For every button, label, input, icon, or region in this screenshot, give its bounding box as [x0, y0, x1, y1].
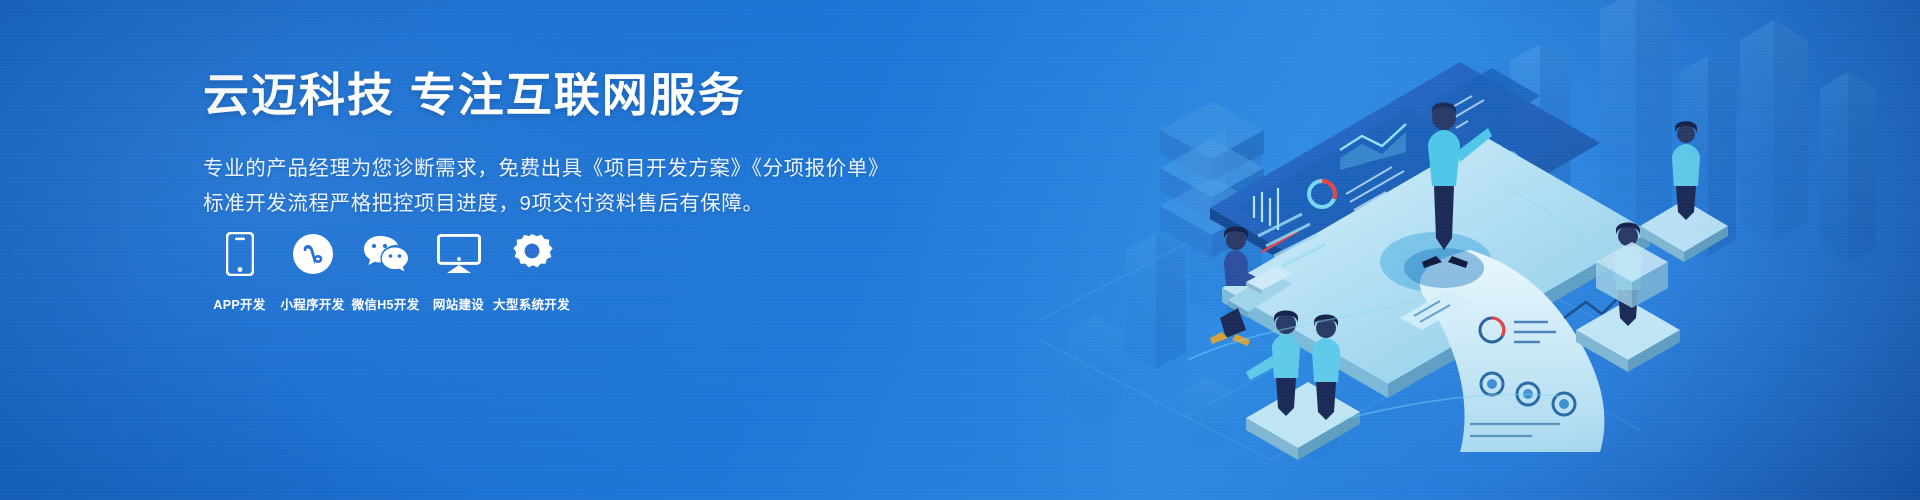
- service-item-wechat-h5[interactable]: 微信H5开发: [349, 231, 422, 313]
- banner-subtitle: 专业的产品经理为您诊断需求，免费出具《项目开发方案》《分项报价单》 标准开发流程…: [203, 151, 923, 222]
- service-icon-row: APP开发 小程序开发 微信: [203, 231, 568, 313]
- monitor-icon: [437, 231, 481, 277]
- subtitle-line-1: 专业的产品经理为您诊断需求，免费出具《项目开发方案》《分项报价单》: [203, 151, 923, 186]
- illustration-container: [1040, 0, 1920, 500]
- service-label-website: 网站建设: [433, 294, 484, 313]
- hero-banner: 云迈科技 专注互联网服务 专业的产品经理为您诊断需求，免费出具《项目开发方案》《…: [0, 0, 1920, 500]
- service-label-app: APP开发: [213, 294, 265, 313]
- service-item-large-system[interactable]: 大型系统开发: [495, 231, 568, 313]
- service-label-wechat-h5: 微信H5开发: [352, 294, 420, 313]
- gear-icon: [511, 231, 553, 277]
- service-item-app[interactable]: APP开发: [203, 231, 276, 313]
- service-item-website[interactable]: 网站建设: [422, 231, 495, 313]
- service-label-large-system: 大型系统开发: [493, 294, 570, 313]
- page-title: 云迈科技 专注互联网服务: [203, 70, 923, 121]
- subtitle-line-2: 标准开发流程严格把控项目进度，9项交付资料售后有保障。: [203, 186, 923, 221]
- banner-copy: 云迈科技 专注互联网服务 专业的产品经理为您诊断需求，免费出具《项目开发方案》《…: [203, 70, 923, 221]
- service-item-mini-program[interactable]: 小程序开发: [276, 231, 349, 313]
- service-label-mini-program: 小程序开发: [280, 294, 344, 313]
- mini-program-icon: [292, 231, 334, 277]
- mobile-phone-icon: [226, 231, 254, 277]
- wechat-icon: [363, 231, 409, 277]
